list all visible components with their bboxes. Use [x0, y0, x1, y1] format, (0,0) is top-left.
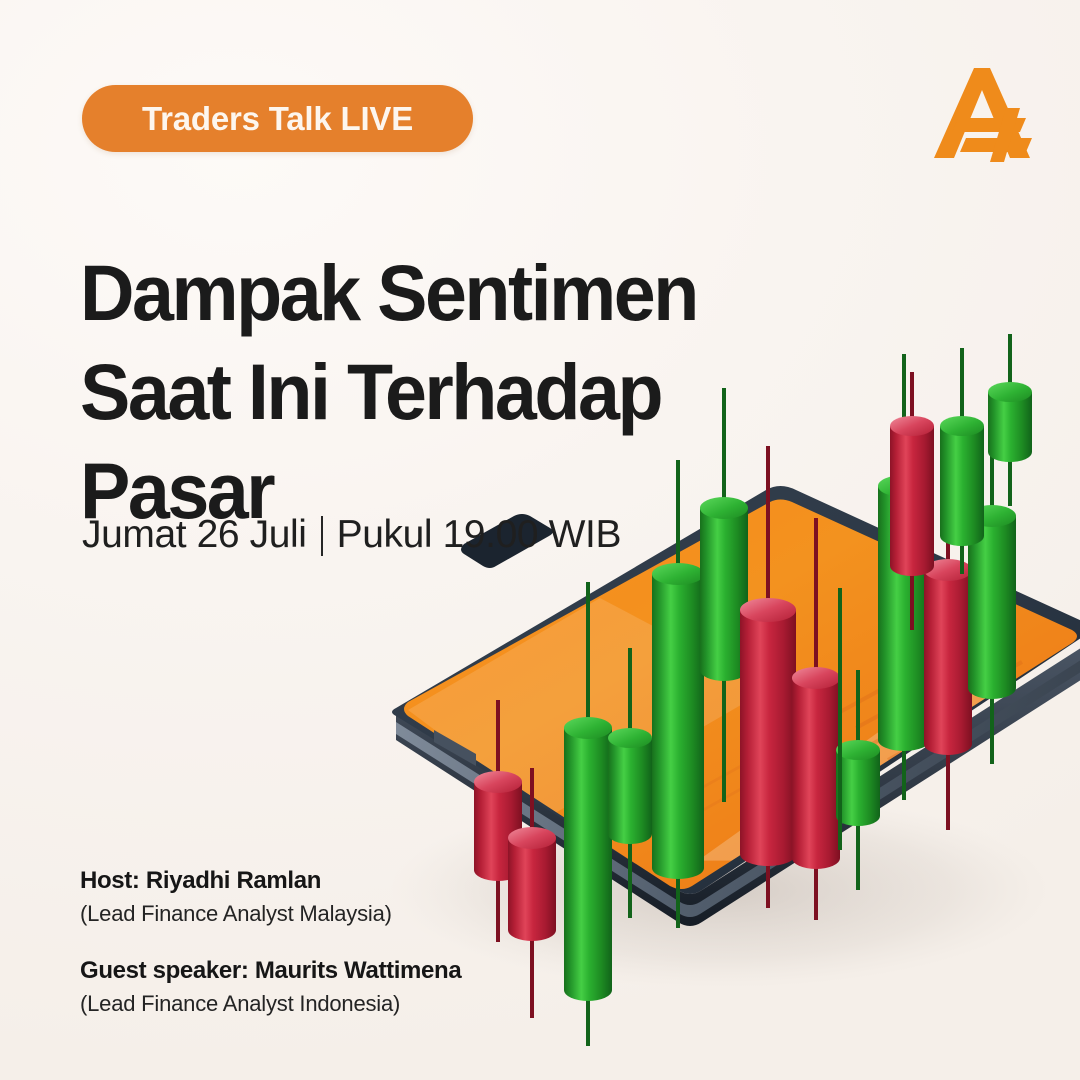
- headline-line-2: Saat Ini Terhadap: [80, 342, 806, 441]
- live-badge-label: Traders Talk LIVE: [142, 100, 413, 138]
- schedule-time: Pukul 19.00 WIB: [337, 513, 621, 557]
- candle-17-bull: [940, 348, 984, 574]
- schedule-line: Jumat 26 Juli Pukul 19.00 WIB: [82, 513, 621, 557]
- poster-canvas: Traders Talk LIVE Dampak Sentimen Saat I…: [0, 0, 1080, 1080]
- guest-name: Guest speaker: Maurits Wattimena: [80, 956, 550, 986]
- schedule-date: Jumat 26 Juli: [82, 513, 307, 557]
- candle-18-bull: [988, 334, 1032, 506]
- host-role: (Lead Finance Analyst Malaysia): [80, 900, 550, 929]
- guest-credit: Guest speaker: Maurits Wattimena (Lead F…: [80, 956, 550, 1018]
- page-title: Dampak Sentimen Saat Ini Terhadap Pasar: [80, 243, 806, 540]
- headline-line-1: Dampak Sentimen: [80, 243, 806, 342]
- credits-block: Host: Riyadhi Ramlan (Lead Finance Analy…: [80, 866, 550, 1019]
- brand-a-logo-icon: [930, 62, 1038, 164]
- schedule-separator: [321, 516, 323, 556]
- host-name: Host: Riyadhi Ramlan: [80, 866, 550, 896]
- live-badge[interactable]: Traders Talk LIVE: [82, 85, 473, 152]
- guest-role: (Lead Finance Analyst Indonesia): [80, 990, 550, 1019]
- host-credit: Host: Riyadhi Ramlan (Lead Finance Analy…: [80, 866, 550, 928]
